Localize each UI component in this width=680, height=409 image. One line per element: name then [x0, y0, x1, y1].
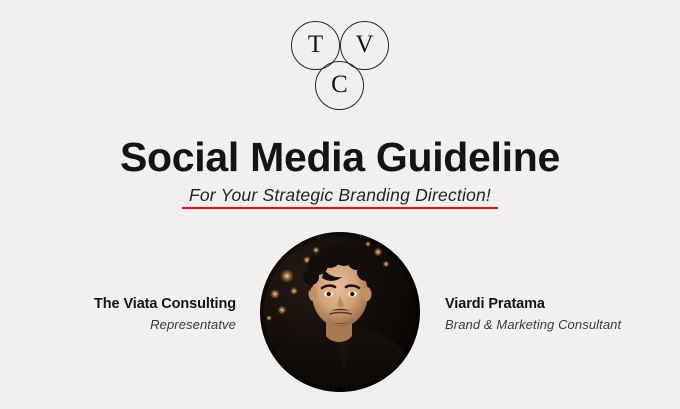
subtitle-container: For Your Strategic Branding Direction! [0, 185, 680, 209]
subtitle-underline-rule [182, 207, 498, 209]
credit-block-right: Viardi Pratama Brand & Marketing Consult… [445, 295, 660, 334]
credit-right-role: Brand & Marketing Consultant [445, 316, 660, 334]
credit-block-left: The Viata Consulting Representatve [0, 295, 236, 334]
presentation-slide: T V C Social Media Guideline For Your St… [0, 0, 680, 409]
logo-letter-c: C [331, 72, 348, 97]
credit-left-name: The Viata Consulting [0, 295, 236, 313]
logo-letter-t: T [308, 32, 323, 57]
credit-right-name: Viardi Pratama [445, 295, 660, 313]
brand-logo: T V C [291, 21, 389, 110]
presenter-avatar [260, 232, 420, 392]
page-subtitle: For Your Strategic Branding Direction! [182, 185, 498, 209]
logo-letter-circle-c: C [315, 61, 364, 110]
credit-left-role: Representatve [0, 316, 236, 334]
logo-letter-v: V [355, 32, 373, 57]
presenter-avatar-image [260, 232, 420, 392]
page-title: Social Media Guideline [0, 134, 680, 181]
subtitle-text: For Your Strategic Branding Direction! [189, 185, 491, 205]
